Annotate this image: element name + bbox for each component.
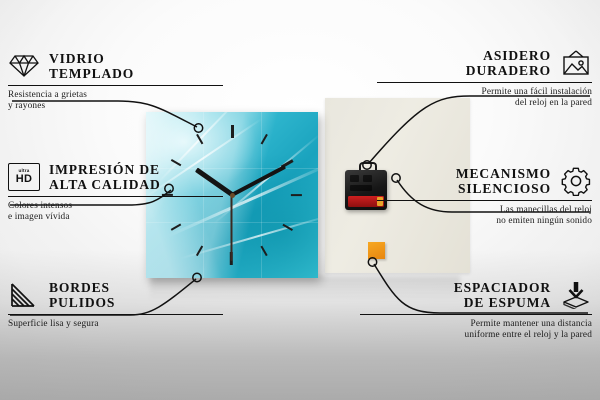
feature-description: Las manecillas del reloj no emiten ningú… <box>377 205 592 228</box>
feature-title-line1: BORDES <box>49 280 115 295</box>
feature-title-line2: DURADERO <box>466 63 551 78</box>
ultra-hd-icon: ultra HD <box>8 161 40 193</box>
feature-title: ESPACIADOR DE ESPUMA <box>454 280 551 310</box>
feature-rule <box>377 82 592 83</box>
feature-title: IMPRESIÓN DE ALTA CALIDAD <box>49 162 161 192</box>
feature-title: BORDES PULIDOS <box>49 280 115 310</box>
feature-rule <box>360 314 592 315</box>
feature-title-line1: ESPACIADOR <box>454 280 551 295</box>
feature-desc-line1: Permite mantener una distancia <box>360 319 592 330</box>
feature-impresion-alta-calidad: ultra HD IMPRESIÓN DE ALTA CALIDAD Color… <box>8 161 223 224</box>
clock-tick-3 <box>232 194 302 196</box>
feature-desc-line2: y rayones <box>8 101 223 112</box>
feature-description: Permite una fácil instalación del reloj … <box>377 87 592 110</box>
feature-desc-line1: Superficie lisa y segura <box>8 319 223 330</box>
feature-desc-line2: del reloj en la pared <box>377 98 592 109</box>
feature-title-line1: MECANISMO <box>456 166 551 181</box>
feature-desc-line2: e imagen vívida <box>8 212 223 223</box>
hd-icon-main-text: HD <box>16 174 33 185</box>
feature-title-line1: ASIDERO <box>466 48 551 63</box>
infographic-canvas: VIDRIO TEMPLADO Resistencia a grietas y … <box>0 0 600 400</box>
feature-title: ASIDERO DURADERO <box>466 48 551 78</box>
feature-rule <box>8 196 223 197</box>
feature-title-line1: VIDRIO <box>49 51 134 66</box>
feature-mecanismo-silencioso: MECANISMO SILENCIOSO Las manecillas del … <box>377 165 592 228</box>
feature-title-line2: TEMPLADO <box>49 66 134 81</box>
feature-title-line2: ALTA CALIDAD <box>49 177 161 192</box>
gear-icon <box>560 165 592 197</box>
feature-title-line1: IMPRESIÓN DE <box>49 162 161 177</box>
feature-espaciador-de-espuma: ESPACIADOR DE ESPUMA Permite mantener un… <box>360 279 592 342</box>
feature-description: Superficie lisa y segura <box>8 319 223 330</box>
feature-title-line2: PULIDOS <box>49 295 115 310</box>
feature-desc-line1: Resistencia a grietas <box>8 90 223 101</box>
polished-edge-icon <box>8 279 40 311</box>
feature-rule <box>8 314 223 315</box>
feature-vidrio-templado: VIDRIO TEMPLADO Resistencia a grietas y … <box>8 50 223 113</box>
movement-detail <box>350 185 372 191</box>
picture-hanger-icon <box>560 47 592 79</box>
feature-title: MECANISMO SILENCIOSO <box>456 166 551 196</box>
foam-spacer <box>368 242 385 259</box>
feature-desc-line2: no emiten ningún sonido <box>377 216 592 227</box>
feature-description: Resistencia a grietas y rayones <box>8 90 223 113</box>
clock-center-cap <box>230 193 235 198</box>
feature-title-line2: DE ESPUMA <box>454 295 551 310</box>
clock-tick-12 <box>231 125 233 195</box>
feature-desc-line1: Permite una fácil instalación <box>377 87 592 98</box>
feature-description: Colores intensos e imagen vívida <box>8 201 223 224</box>
feature-desc-line1: Las manecillas del reloj <box>377 205 592 216</box>
feature-rule <box>8 85 223 86</box>
foam-spacer-icon <box>560 279 592 311</box>
feature-title-line2: SILENCIOSO <box>456 181 551 196</box>
feature-desc-line2: uniforme entre el reloj y la pared <box>360 330 592 341</box>
feature-title: VIDRIO TEMPLADO <box>49 51 134 81</box>
movement-detail <box>350 175 359 182</box>
feature-asidero-duradero: ASIDERO DURADERO Permite una fácil insta… <box>377 47 592 110</box>
feature-desc-line1: Colores intensos <box>8 201 223 212</box>
movement-detail <box>363 175 372 182</box>
feature-bordes-pulidos: BORDES PULIDOS Superficie lisa y segura <box>8 279 223 330</box>
diamond-icon <box>8 50 40 82</box>
feature-rule <box>377 200 592 201</box>
feature-description: Permite mantener una distancia uniforme … <box>360 319 592 342</box>
